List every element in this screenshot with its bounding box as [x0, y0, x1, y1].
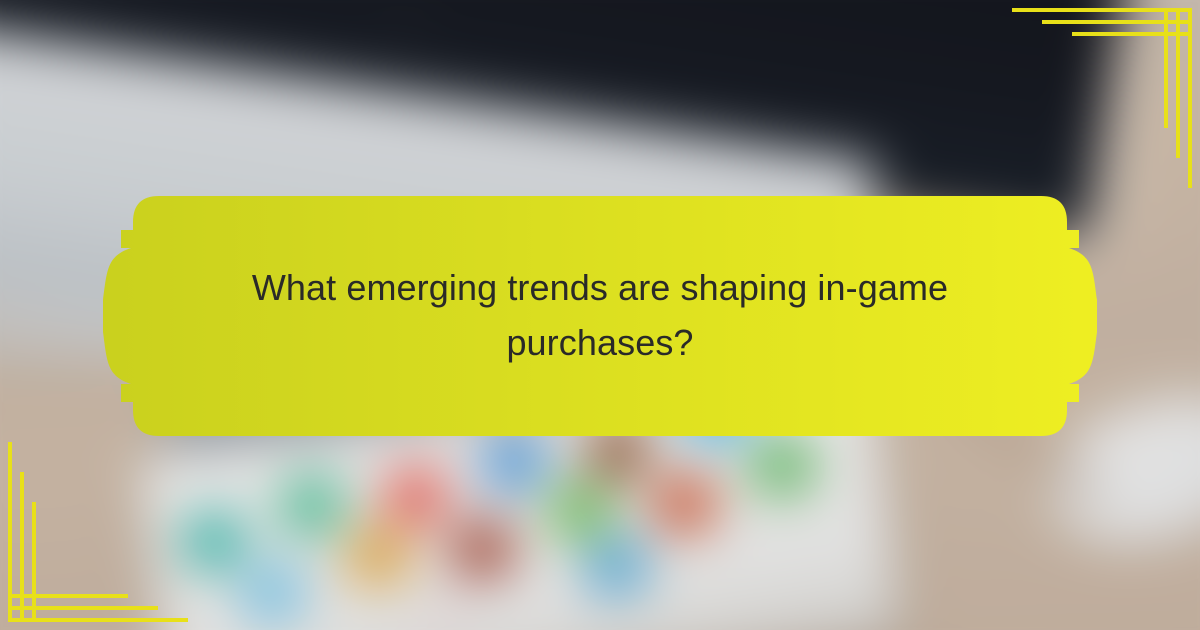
screenshot-canvas: What emerging trends are shaping in-game…	[0, 0, 1200, 630]
quote-card: What emerging trends are shaping in-game…	[103, 196, 1097, 436]
question-text: What emerging trends are shaping in-game…	[195, 261, 1005, 370]
quote-card-text: What emerging trends are shaping in-game…	[195, 196, 1005, 436]
